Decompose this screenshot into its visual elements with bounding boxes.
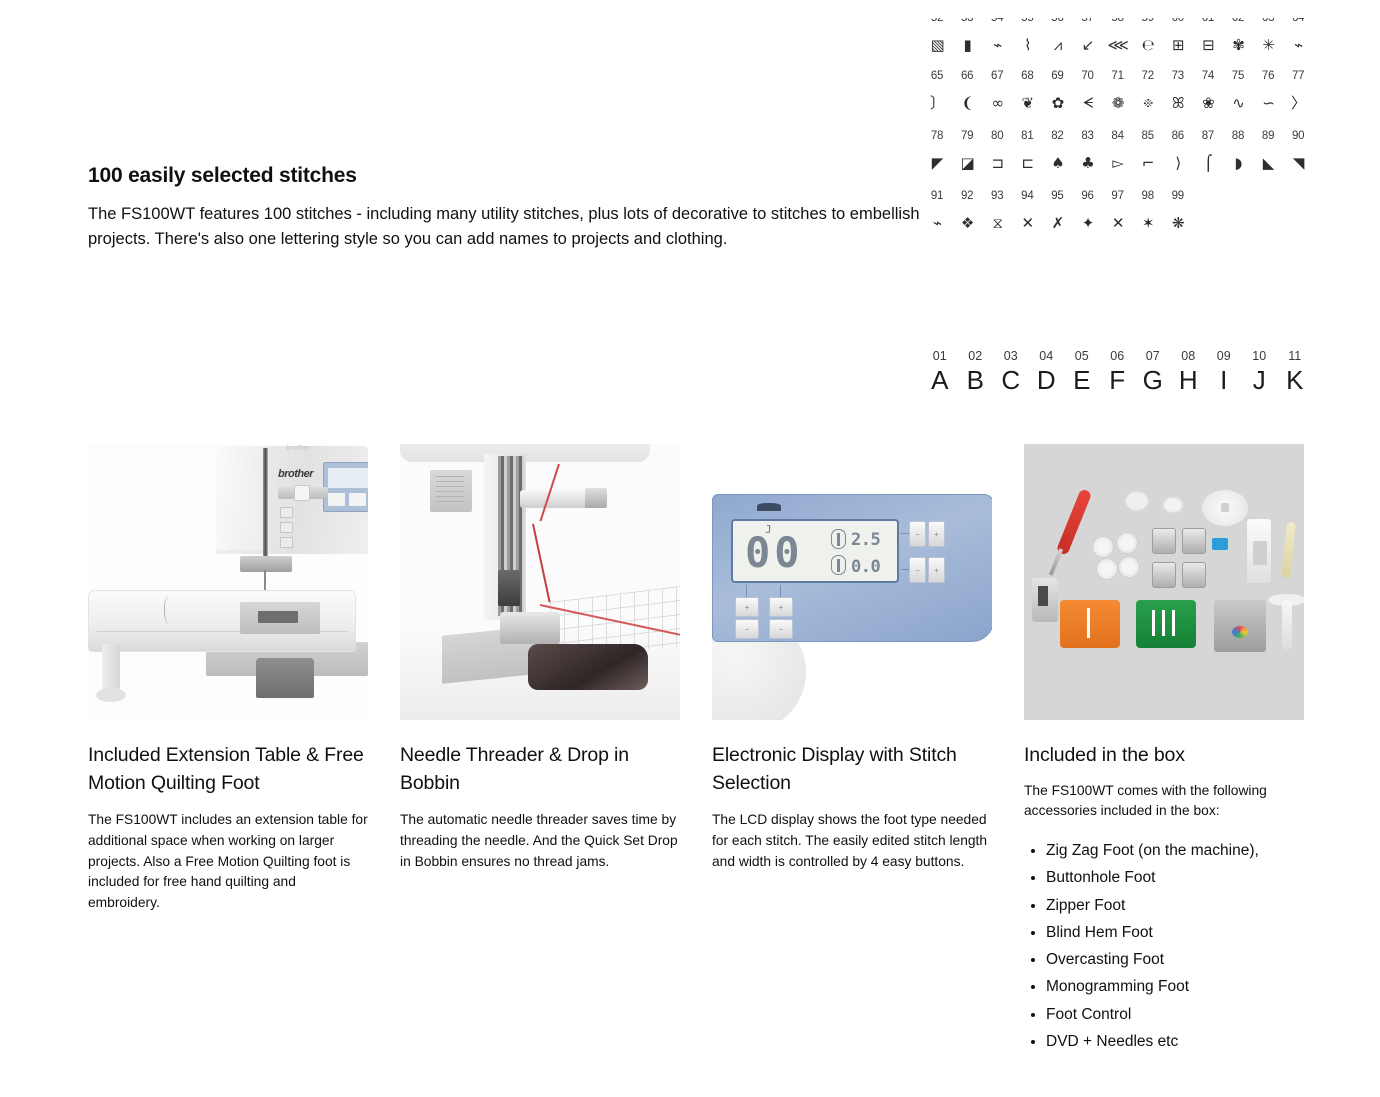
stitch-pattern-icon: ↙ bbox=[1072, 24, 1102, 64]
stitch-number: 97 bbox=[1103, 190, 1133, 202]
alphabet-number: 06 bbox=[1100, 348, 1136, 364]
stitch-cell: 86⟩ bbox=[1163, 130, 1193, 184]
alphabet-cell: 06F bbox=[1100, 348, 1136, 396]
stitch-cell: 78◤ bbox=[922, 130, 952, 184]
list-item: Buttonhole Foot bbox=[1046, 865, 1304, 890]
alphabet-letter: E bbox=[1064, 364, 1100, 396]
included-accessories-photo bbox=[1024, 444, 1304, 720]
stitch-cell: 68❦ bbox=[1012, 70, 1042, 124]
cleaning-brush-icon bbox=[1281, 522, 1296, 579]
list-item: Blind Hem Foot bbox=[1046, 920, 1304, 945]
stitch-cell: 61⊟ bbox=[1193, 18, 1223, 64]
alphabet-number: 07 bbox=[1135, 348, 1171, 364]
stitch-number: 72 bbox=[1133, 70, 1163, 82]
stitch-pattern-icon: ▧ bbox=[922, 24, 952, 64]
alphabet-letter: G bbox=[1135, 364, 1171, 396]
stitch-number: 67 bbox=[982, 70, 1012, 82]
stitch-pattern-icon: ⋘ bbox=[1103, 24, 1133, 64]
presser-foot-icon bbox=[1182, 562, 1206, 588]
stitch-number: 90 bbox=[1283, 130, 1313, 142]
stitch-number: 83 bbox=[1072, 130, 1102, 142]
stitch-number: 66 bbox=[952, 70, 982, 82]
stitch-cell: 79◪ bbox=[952, 130, 982, 184]
alphabet-cell: 08H bbox=[1171, 348, 1207, 396]
stitch-number: 76 bbox=[1253, 70, 1283, 82]
stitch-pattern-icon: ✗ bbox=[1042, 202, 1072, 244]
stitch-number: 81 bbox=[1012, 130, 1042, 142]
product-feature-page: 100 easily selected stitches The FS100WT… bbox=[0, 0, 1380, 1097]
stitch-pattern-icon: 〕 bbox=[922, 82, 952, 124]
stitch-pattern-icon: ꕤ bbox=[1163, 82, 1193, 124]
stitch-number: 77 bbox=[1283, 70, 1313, 82]
stitch-pattern-icon: ⊟ bbox=[1193, 24, 1223, 64]
stitch-pattern-icon: ◤ bbox=[922, 142, 952, 184]
stitch-cell: 83♣ bbox=[1072, 130, 1102, 184]
alphabet-letter: K bbox=[1277, 364, 1313, 396]
stitch-cell: 92❖ bbox=[952, 190, 982, 244]
stitch-length-icon bbox=[831, 555, 846, 575]
stitch-number: 71 bbox=[1103, 70, 1133, 82]
stitch-pattern-icon: ❁ bbox=[1103, 82, 1133, 124]
alphabet-number: 05 bbox=[1064, 348, 1100, 364]
included-accessories-list: Zig Zag Foot (on the machine),Buttonhole… bbox=[1024, 838, 1304, 1054]
stitch-cell: 60⊞ bbox=[1163, 18, 1193, 64]
stitch-cell: 65〕 bbox=[922, 70, 952, 124]
stitch-pattern-icon: ◣ bbox=[1253, 142, 1283, 184]
stitch-cell: 59℮ bbox=[1133, 18, 1163, 64]
stitch-cell: 91⌁ bbox=[922, 190, 952, 244]
alphabet-number: 10 bbox=[1242, 348, 1278, 364]
stitch-cell: 54⌁ bbox=[982, 18, 1012, 64]
stitch-pattern-icon: ∽ bbox=[1253, 82, 1283, 124]
stitch-pattern-icon: ⌐ bbox=[1133, 142, 1163, 184]
stitch-cell: 52▧ bbox=[922, 18, 952, 64]
stitch-number: 82 bbox=[1042, 130, 1072, 142]
list-item: Overcasting Foot bbox=[1046, 947, 1304, 972]
stitch-pattern-icon: ❋ bbox=[1163, 202, 1193, 244]
alphabet-letter: H bbox=[1171, 364, 1207, 396]
card-body: The LCD display shows the foot type need… bbox=[712, 810, 992, 872]
stitch-cell: 58⋘ bbox=[1103, 18, 1133, 64]
alphabet-number: 11 bbox=[1277, 348, 1313, 364]
alphabet-number: 02 bbox=[958, 348, 994, 364]
stitch-chart-row: 65〕66❨67∞68❦69✿70ᗕ71❁72፠73ꕤ74❀75∿76∽77〉 bbox=[922, 70, 1314, 124]
stitch-pattern-icon: ✶ bbox=[1133, 202, 1163, 244]
stitch-cell: 62✾ bbox=[1223, 18, 1253, 64]
stitch-ones-up-button[interactable]: + bbox=[769, 597, 793, 617]
stitch-pattern-icon: ⌁ bbox=[922, 202, 952, 244]
stitch-pattern-icon: ❨ bbox=[952, 82, 982, 124]
alphabet-chart: 01A02B03C04D05E06F07G08H09I10J11K bbox=[922, 348, 1314, 396]
stitch-cell: 72፠ bbox=[1133, 70, 1163, 124]
stitch-pattern-icon: ⊐ bbox=[982, 142, 1012, 184]
buttonhole-foot-icon bbox=[1246, 518, 1272, 584]
stitch-pattern-icon: ⩘ bbox=[1042, 24, 1072, 64]
alphabet-number: 08 bbox=[1171, 348, 1207, 364]
stitch-cell: 87⌠ bbox=[1193, 130, 1223, 184]
stitch-cell: 98✶ bbox=[1133, 190, 1163, 244]
stitch-pattern-icon: ✳ bbox=[1253, 24, 1283, 64]
stitch-pattern-icon: ❀ bbox=[1193, 82, 1223, 124]
alphabet-letter: B bbox=[958, 364, 994, 396]
stitch-number: 96 bbox=[1072, 190, 1102, 202]
stitch-pattern-icon: ✾ bbox=[1223, 24, 1253, 64]
stitch-pattern-icon: ♣ bbox=[1072, 142, 1102, 184]
stitch-number: 87 bbox=[1193, 130, 1223, 142]
stitch-pattern-icon: ❦ bbox=[1012, 82, 1042, 124]
stitch-cell: 88◗ bbox=[1223, 130, 1253, 184]
alphabet-number: 03 bbox=[993, 348, 1029, 364]
stitch-pattern-icon: ℮ bbox=[1133, 24, 1163, 64]
stitch-number: 88 bbox=[1223, 130, 1253, 142]
stitch-cell: 56⩘ bbox=[1042, 18, 1072, 64]
stitch-number: 70 bbox=[1072, 70, 1102, 82]
stitch-tens-up-button[interactable]: + bbox=[735, 597, 759, 617]
stitch-pattern-icon: ⌠ bbox=[1193, 142, 1223, 184]
alphabet-letter: C bbox=[993, 364, 1029, 396]
stitch-cell: 96✦ bbox=[1072, 190, 1102, 244]
intro-block: 100 easily selected stitches The FS100WT… bbox=[88, 164, 928, 252]
stitch-cell: 99❋ bbox=[1163, 190, 1193, 244]
stitch-number: 93 bbox=[982, 190, 1012, 202]
stitch-cell: 74❀ bbox=[1193, 70, 1223, 124]
needle-set-pack bbox=[1214, 600, 1266, 652]
width-plus-button[interactable]: + bbox=[928, 521, 945, 547]
presser-foot-icon bbox=[757, 503, 781, 511]
alphabet-number: 09 bbox=[1206, 348, 1242, 364]
stitch-pattern-icon: ∿ bbox=[1223, 82, 1253, 124]
intro-paragraph: The FS100WT features 100 stitches - incl… bbox=[88, 202, 928, 252]
brother-script-icon: brother bbox=[286, 445, 310, 452]
stitch-cell: 53▮ bbox=[952, 18, 982, 64]
stitch-cell: 69✿ bbox=[1042, 70, 1072, 124]
alphabet-cell: 11K bbox=[1277, 348, 1313, 396]
stitch-number: 95 bbox=[1042, 190, 1072, 202]
stitch-number: 79 bbox=[952, 130, 982, 142]
width-adjust-buttons[interactable]: − + bbox=[909, 521, 945, 547]
card-body: The FS100WT includes an extension table … bbox=[88, 810, 368, 913]
stitch-pattern-icon: ∞ bbox=[982, 82, 1012, 124]
presser-foot-icon bbox=[1182, 528, 1206, 554]
stitch-cell: 55⌇ bbox=[1012, 18, 1042, 64]
alphabet-letter: A bbox=[922, 364, 958, 396]
lcd-stitch-number: 00 bbox=[745, 532, 804, 574]
stitch-pattern-icon: ✿ bbox=[1042, 82, 1072, 124]
stitch-cell: 85⌐ bbox=[1133, 130, 1163, 184]
list-item: Monogramming Foot bbox=[1046, 974, 1304, 999]
stitch-pattern-icon: ⟩ bbox=[1163, 142, 1193, 184]
stitch-chart-row: 91⌁92❖93⧖94✕95✗96✦97✕98✶99❋ bbox=[922, 190, 1314, 244]
stitch-pattern-icon: ✕ bbox=[1103, 202, 1133, 244]
card-title: Electronic Display with Stitch Selection bbox=[712, 742, 992, 797]
stitch-number: 68 bbox=[1012, 70, 1042, 82]
stitch-pattern-icon: ♠ bbox=[1042, 142, 1072, 184]
stitch-number: 94 bbox=[1012, 190, 1042, 202]
feature-card-in-the-box: Included in the box The FS100WT comes wi… bbox=[1024, 444, 1304, 1056]
presser-foot-icon bbox=[1152, 528, 1176, 554]
stitch-chart-row: 78◤79◪80⊐81⊏82♠83♣84▻85⌐86⟩87⌠88◗89◣90◥ bbox=[922, 130, 1314, 184]
stitch-width-icon bbox=[831, 529, 846, 549]
stitch-pattern-icon: ✕ bbox=[1012, 202, 1042, 244]
stitch-pattern-icon: ▻ bbox=[1103, 142, 1133, 184]
alphabet-cell: 10J bbox=[1242, 348, 1278, 396]
stitch-pattern-icon: ⧖ bbox=[982, 202, 1012, 244]
stitch-pattern-icon: ⌁ bbox=[1283, 24, 1313, 64]
stitch-tens-buttons[interactable]: + − bbox=[735, 597, 759, 639]
stitch-pattern-icon: ፠ bbox=[1133, 82, 1163, 124]
stitch-number: 99 bbox=[1163, 190, 1193, 202]
stitch-number: 80 bbox=[982, 130, 1012, 142]
alphabet-cell: 01A bbox=[922, 348, 958, 396]
alphabet-number: 01 bbox=[922, 348, 958, 364]
stitch-pattern-icon: ◗ bbox=[1223, 142, 1253, 184]
spool-pin-icon bbox=[1282, 600, 1292, 650]
lcd-width-value: 2.5 bbox=[851, 530, 880, 550]
list-item: DVD + Needles etc bbox=[1046, 1029, 1304, 1054]
stitch-number: 74 bbox=[1193, 70, 1223, 82]
card-body: The FS100WT comes with the following acc… bbox=[1024, 781, 1304, 822]
stitch-number: 84 bbox=[1103, 130, 1133, 142]
stitch-pattern-icon: ◪ bbox=[952, 142, 982, 184]
alphabet-row: 01A02B03C04D05E06F07G08H09I10J11K bbox=[922, 348, 1314, 396]
stitch-cell: 63✳ bbox=[1253, 18, 1283, 64]
stitch-cell: 97✕ bbox=[1103, 190, 1133, 244]
list-item: Foot Control bbox=[1046, 1002, 1304, 1027]
stitch-number: 92 bbox=[952, 190, 982, 202]
stitch-pattern-icon: ◥ bbox=[1283, 142, 1313, 184]
lcd-screen: J 00 2.5 0.0 bbox=[731, 519, 899, 583]
stitch-cell: 75∿ bbox=[1223, 70, 1253, 124]
stitch-pattern-icon: ⌇ bbox=[1012, 24, 1042, 64]
stitch-cell: 70ᗕ bbox=[1072, 70, 1102, 124]
stitch-tens-down-button[interactable]: − bbox=[735, 619, 759, 639]
stitch-ones-buttons[interactable]: + − bbox=[769, 597, 793, 639]
feature-card-needle-threader: Needle Threader & Drop in Bobbin The aut… bbox=[400, 444, 680, 1056]
stitch-chart-row: 52▧53▮54⌁55⌇56⩘57↙58⋘59℮60⊞61⊟62✾63✳64⌁ bbox=[922, 18, 1314, 64]
width-minus-button[interactable]: − bbox=[909, 521, 926, 547]
length-minus-button[interactable]: − bbox=[909, 557, 926, 583]
length-plus-button[interactable]: + bbox=[928, 557, 945, 583]
needle-threader-bobbin-photo bbox=[400, 444, 680, 720]
stitch-number: 75 bbox=[1223, 70, 1253, 82]
extension-table-machine-photo: brother brother bbox=[88, 444, 368, 720]
stitch-ones-down-button[interactable]: − bbox=[769, 619, 793, 639]
machine-lcd-icon bbox=[323, 462, 368, 512]
stitch-pattern-icon: ⊏ bbox=[1012, 142, 1042, 184]
needle-pack-orange bbox=[1060, 600, 1120, 648]
brother-logo: brother bbox=[278, 468, 313, 480]
stitch-cell: 93⧖ bbox=[982, 190, 1012, 244]
stitch-cell: 80⊐ bbox=[982, 130, 1012, 184]
stitch-cell: 64⌁ bbox=[1283, 18, 1313, 64]
stitch-cell: 77〉 bbox=[1283, 70, 1313, 124]
alphabet-number: 04 bbox=[1029, 348, 1065, 364]
stitch-number: 91 bbox=[922, 190, 952, 202]
feature-card-row: brother brother bbox=[88, 444, 1306, 1056]
stitch-cell: 89◣ bbox=[1253, 130, 1283, 184]
stitch-pattern-icon: ❖ bbox=[952, 202, 982, 244]
stitch-pattern-icon: ✦ bbox=[1072, 202, 1102, 244]
stitch-cell: 90◥ bbox=[1283, 130, 1313, 184]
seam-ripper-icon bbox=[1056, 488, 1093, 556]
stitch-pattern-icon: ⌁ bbox=[982, 24, 1012, 64]
presser-foot-icon bbox=[1152, 562, 1176, 588]
length-adjust-buttons[interactable]: − + bbox=[909, 557, 945, 583]
alphabet-letter: I bbox=[1206, 364, 1242, 396]
stitch-number: 86 bbox=[1163, 130, 1193, 142]
stitch-pattern-icon: ▮ bbox=[952, 24, 982, 64]
lcd-length-value: 0.0 bbox=[851, 557, 880, 577]
stitch-pattern-icon: 〉 bbox=[1283, 82, 1313, 124]
card-title: Included in the box bbox=[1024, 742, 1304, 770]
card-title: Needle Threader & Drop in Bobbin bbox=[400, 742, 680, 797]
list-item: Zipper Foot bbox=[1046, 893, 1304, 918]
alphabet-cell: 02B bbox=[958, 348, 994, 396]
stitch-cell: 73ꕤ bbox=[1163, 70, 1193, 124]
stitch-cell: 82♠ bbox=[1042, 130, 1072, 184]
stitch-number: 85 bbox=[1133, 130, 1163, 142]
alphabet-cell: 09I bbox=[1206, 348, 1242, 396]
stitch-number: 65 bbox=[922, 70, 952, 82]
stitch-pattern-icon: ᗕ bbox=[1072, 82, 1102, 124]
stitch-cell: 84▻ bbox=[1103, 130, 1133, 184]
list-item: Zig Zag Foot (on the machine), bbox=[1046, 838, 1304, 863]
card-title: Included Extension Table & Free Motion Q… bbox=[88, 742, 368, 797]
stitch-cell: 67∞ bbox=[982, 70, 1012, 124]
stitch-cell: 66❨ bbox=[952, 70, 982, 124]
alphabet-cell: 03C bbox=[993, 348, 1029, 396]
stitch-number: 89 bbox=[1253, 130, 1283, 142]
card-body: The automatic needle threader saves time… bbox=[400, 810, 680, 872]
stitch-chart: 52▧53▮54⌁55⌇56⩘57↙58⋘59℮60⊞61⊟62✾63✳64⌁6… bbox=[922, 18, 1314, 250]
alphabet-letter: F bbox=[1100, 364, 1136, 396]
stitch-pattern-icon: ⊞ bbox=[1163, 24, 1193, 64]
lcd-display-photo: J 00 2.5 0.0 − + bbox=[712, 444, 992, 720]
stitch-number: 98 bbox=[1133, 190, 1163, 202]
stitch-cell: 81⊏ bbox=[1012, 130, 1042, 184]
page-title: 100 easily selected stitches bbox=[88, 164, 928, 188]
stitch-cell: 71❁ bbox=[1103, 70, 1133, 124]
alphabet-letter: D bbox=[1029, 364, 1065, 396]
alphabet-letter: J bbox=[1242, 364, 1278, 396]
needle-pack-green bbox=[1136, 600, 1196, 648]
stitch-cell: 94✕ bbox=[1012, 190, 1042, 244]
alphabet-cell: 07G bbox=[1135, 348, 1171, 396]
stitch-cell: 95✗ bbox=[1042, 190, 1072, 244]
feature-card-electronic-display: J 00 2.5 0.0 − + bbox=[712, 444, 992, 1056]
stitch-cell: 57↙ bbox=[1072, 18, 1102, 64]
stitch-number: 78 bbox=[922, 130, 952, 142]
stitch-number: 73 bbox=[1163, 70, 1193, 82]
alphabet-cell: 05E bbox=[1064, 348, 1100, 396]
feature-card-extension-table: brother brother bbox=[88, 444, 368, 1056]
alphabet-cell: 04D bbox=[1029, 348, 1065, 396]
stitch-number: 69 bbox=[1042, 70, 1072, 82]
stitch-cell: 76∽ bbox=[1253, 70, 1283, 124]
